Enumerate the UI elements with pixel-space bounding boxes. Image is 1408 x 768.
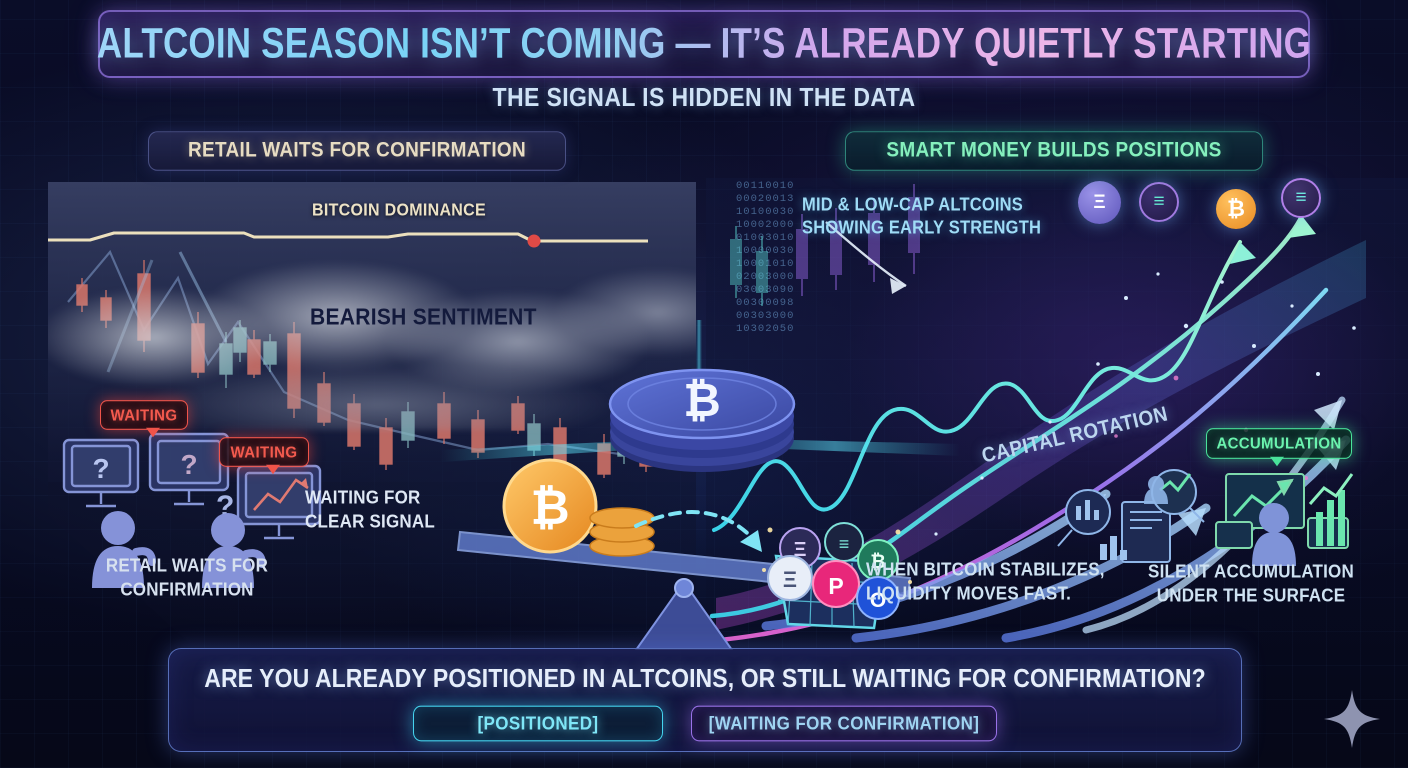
bitcoin-dominance-line — [48, 224, 648, 250]
accumulation-badge: ACCUMULATION — [1206, 428, 1352, 459]
silent-caption-line-1: SILENT ACCUMULATION — [1120, 560, 1382, 584]
svg-text:≡: ≡ — [839, 534, 850, 554]
bitcoin-dominance-label: BITCOIN DOMINANCE — [312, 201, 486, 221]
svg-text:?: ? — [180, 449, 197, 480]
infographic-canvas: BITCOIN DOMINANCE BEARISH SENTIMENT ? ? … — [0, 0, 1408, 768]
midcap-line-1: MID & LOW-CAP ALTCOINS — [802, 194, 1041, 218]
solana-symbol-2: ≡ — [1295, 187, 1306, 209]
section-pill-retail: RETAIL WAITS FOR CONFIRMATION — [148, 131, 566, 171]
sparkle-icon — [1322, 688, 1382, 750]
waiting-note-line-1: WAITING FOR — [305, 486, 435, 510]
retail-caption-line-2: CONFIRMATION — [62, 578, 312, 602]
retail-caption: RETAIL WAITS FOR CONFIRMATION — [62, 554, 312, 603]
svg-text:?: ? — [92, 453, 109, 484]
waiting-for-confirmation-button[interactable]: [WAITING FOR CONFIRMATION] — [691, 706, 997, 742]
midcap-strength-annotation: MID & LOW-CAP ALTCOINS SHOWING EARLY STR… — [802, 194, 1041, 241]
cta-panel: ARE YOU ALREADY POSITIONED IN ALTCOINS, … — [168, 648, 1242, 752]
silent-caption-line-2: UNDER THE SURFACE — [1120, 584, 1382, 608]
page-title: ALTCOIN SEASON ISN’T COMING — IT’S ALREA… — [97, 20, 1311, 69]
bitcoin-symbol: ₿ — [1227, 196, 1245, 222]
page-subtitle: THE SIGNAL IS HIDDEN IN THE DATA — [0, 82, 1408, 112]
svg-text:Ξ: Ξ — [783, 567, 797, 592]
solana-token-icon: ≡ — [1139, 182, 1179, 222]
midcap-line-2: SHOWING EARLY STRENGTH — [802, 217, 1041, 241]
ethereum-token-icon: Ξ — [1078, 181, 1121, 224]
ethereum-symbol: Ξ — [1093, 192, 1105, 214]
svg-text:₿: ₿ — [530, 482, 569, 535]
solana-symbol: ≡ — [1153, 191, 1164, 213]
waiting-badge-2: WAITING — [219, 437, 309, 467]
waiting-note-line-2: CLEAR SIGNAL — [305, 510, 435, 534]
bitcoin-token-icon: ₿ — [1216, 189, 1256, 229]
title-banner: ALTCOIN SEASON ISN’T COMING — IT’S ALREA… — [98, 10, 1310, 78]
section-pill-smart-money: SMART MONEY BUILDS POSITIONS — [845, 131, 1263, 171]
liquidity-line-1: WHEN BITCOIN STABILIZES, — [866, 558, 1105, 583]
waiting-for-clear-signal-note: WAITING FOR CLEAR SIGNAL — [305, 486, 435, 534]
retail-caption-line-1: RETAIL WAITS FOR — [62, 554, 312, 578]
cta-button-group: [POSITIONED] [WAITING FOR CONFIRMATION] — [169, 707, 1241, 740]
liquidity-caption: WHEN BITCOIN STABILIZES, LIQUIDITY MOVES… — [866, 558, 1105, 607]
cta-question: ARE YOU ALREADY POSITIONED IN ALTCOINS, … — [169, 663, 1241, 694]
accumulation-analytics-icons — [1040, 460, 1370, 570]
waiting-badge-1: WAITING — [100, 400, 188, 430]
silent-accumulation-caption: SILENT ACCUMULATION UNDER THE SURFACE — [1120, 560, 1382, 609]
svg-text:P: P — [828, 573, 843, 599]
positioned-button[interactable]: [POSITIONED] — [413, 706, 663, 742]
liquidity-line-2: LIQUIDITY MOVES FAST. — [866, 582, 1105, 607]
solana-token-icon-2: ≡ — [1281, 178, 1321, 218]
svg-text:₿: ₿ — [683, 374, 721, 426]
